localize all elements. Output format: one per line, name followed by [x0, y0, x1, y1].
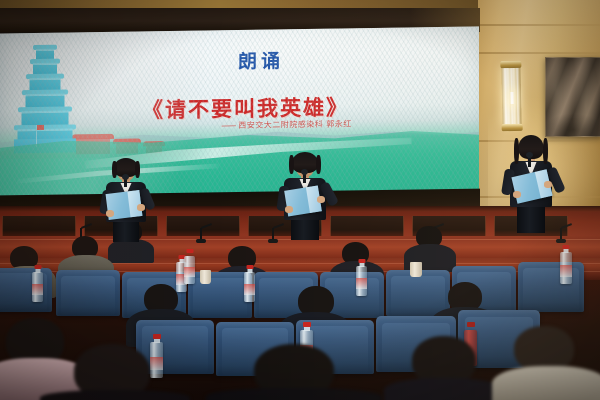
water-bottle: [184, 256, 195, 284]
wall-sconce-light: [499, 60, 524, 132]
performer-right: [498, 135, 564, 233]
sconce-filament: [510, 92, 513, 104]
bottle-cap: [186, 249, 193, 253]
performer-hair: [289, 155, 294, 174]
audience-shoulders: [108, 239, 154, 263]
performer-hair: [135, 161, 140, 178]
performer-hair: [112, 161, 117, 178]
performer-hand: [285, 206, 293, 213]
desk-microphone: [200, 228, 202, 240]
presidium-chair: [2, 216, 76, 236]
performer-hand: [544, 181, 552, 188]
performer-trousers: [113, 220, 139, 242]
performer-hand: [106, 210, 114, 217]
performer-hair: [543, 138, 548, 164]
list-item: [492, 326, 600, 400]
screen-program-label: 朗诵: [0, 43, 479, 77]
performer-microphone: [124, 178, 127, 187]
bottle-neck: [359, 263, 364, 267]
water-bottle: [560, 252, 572, 284]
wall-seam: [478, 52, 600, 54]
sconce-cap: [502, 124, 523, 131]
performer-hand: [137, 204, 145, 211]
water-bottle: [244, 272, 255, 302]
audience-shoulders: [492, 366, 600, 400]
byline-dash: ——: [221, 121, 235, 130]
performer-microphone: [528, 156, 531, 167]
list-item: [206, 344, 382, 400]
presidium-chair: [330, 216, 404, 236]
sconce-cap: [500, 61, 521, 68]
bottle-cap: [467, 322, 475, 327]
list-item: [40, 344, 190, 400]
panel-texture: [546, 58, 600, 136]
performer-trousers: [291, 218, 319, 240]
performer-hand: [513, 191, 521, 198]
bottle-label: [184, 267, 195, 277]
bottle-label: [356, 278, 367, 289]
temple-roof-graphic: [72, 134, 114, 140]
performer-hair: [316, 155, 321, 174]
audience-shoulders: [384, 378, 504, 400]
audience-seat[interactable]: [518, 262, 584, 312]
bottle-neck: [304, 327, 310, 331]
water-bottle: [32, 272, 43, 302]
performer-center: [272, 152, 338, 240]
audience-seat[interactable]: [56, 270, 120, 316]
bottle-label: [560, 265, 572, 277]
conference-hall-photo: 朗诵 《请不要叫我英雄》 ——西安交大二附院感染科 郭永红: [0, 0, 600, 400]
bottle-neck: [564, 249, 569, 253]
bottle-neck: [154, 339, 160, 343]
audience-seat[interactable]: [0, 268, 52, 312]
performer-hand: [317, 196, 325, 203]
sconce-body: [501, 66, 521, 126]
list-item: [384, 336, 504, 400]
bottle-neck: [247, 269, 252, 273]
audience-seat[interactable]: [188, 272, 252, 318]
byline-text: 西安交大二附院感染科 郭永红: [238, 119, 352, 130]
water-bottle: [356, 266, 367, 296]
audience-shoulders: [40, 390, 190, 400]
bottle-neck: [35, 269, 40, 273]
bottle-label: [244, 284, 255, 295]
wall-seam: [478, 24, 600, 26]
paper-cup: [410, 262, 422, 277]
paper-cup: [200, 270, 211, 284]
audience-shoulders: [206, 388, 382, 400]
performer-microphone: [303, 173, 306, 183]
led-projection-screen: 朗诵 《请不要叫我英雄》 ——西安交大二附院感染科 郭永红: [0, 26, 479, 199]
dark-decorative-wall-panel: [545, 57, 600, 137]
performer-hair: [514, 138, 519, 164]
bottle-label: [32, 284, 43, 295]
performer-trousers: [517, 205, 545, 233]
